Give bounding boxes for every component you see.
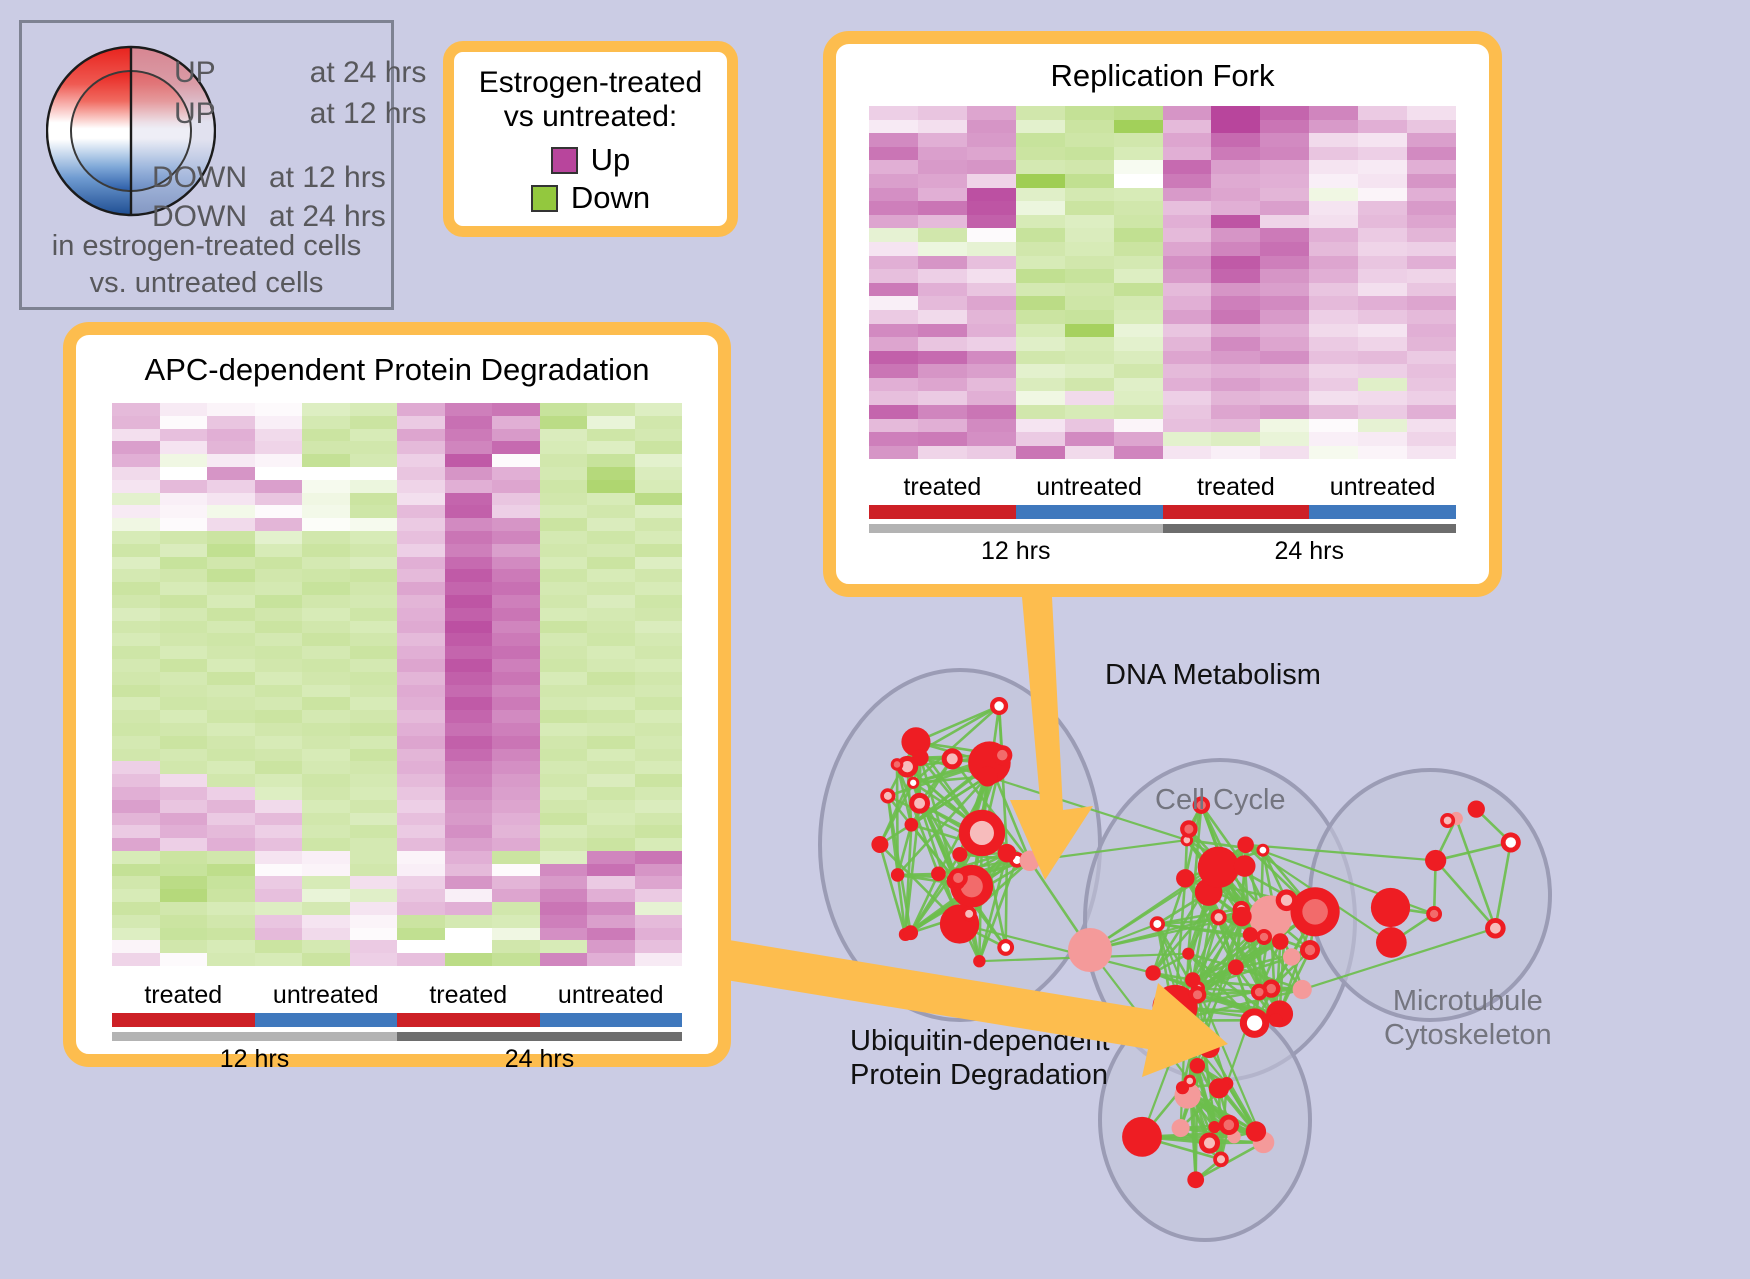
- network-node: [1145, 965, 1160, 980]
- heatmap-cell: [397, 582, 445, 595]
- heatmap-cell: [350, 889, 398, 902]
- heatmap-cell: [635, 697, 683, 710]
- time-bar-segment: [397, 1032, 682, 1041]
- heatmap-cell: [492, 761, 540, 774]
- heatmap-cell: [397, 518, 445, 531]
- heatmap-cell: [540, 454, 588, 467]
- heatmap-cell: [350, 467, 398, 480]
- condition-label: treated: [112, 981, 255, 1010]
- down-swatch-icon: [531, 185, 558, 212]
- heatmap-cell: [397, 608, 445, 621]
- heatmap-cell: [302, 761, 350, 774]
- network-node: [1187, 1171, 1204, 1188]
- heatmap-cell: [587, 518, 635, 531]
- heatmap-cell: [1114, 351, 1163, 365]
- heatmap-cell: [445, 429, 493, 442]
- network-node: [1232, 907, 1252, 927]
- heatmap-cell: [587, 557, 635, 570]
- heatmap-cell: [1211, 324, 1260, 338]
- heatmap-cell: [869, 446, 918, 460]
- heatmap-cell: [1211, 432, 1260, 446]
- heatmap-cell: [492, 518, 540, 531]
- heatmap-cell: [302, 697, 350, 710]
- heatmap-cell: [302, 441, 350, 454]
- heatmap-cell: [350, 544, 398, 557]
- heatmap-cell: [918, 446, 967, 460]
- heatmap-cell: [869, 242, 918, 256]
- heatmap-cell: [397, 800, 445, 813]
- network-node-core: [1214, 913, 1222, 921]
- key-caption-line2: vs. untreated cells: [22, 265, 391, 302]
- heatmap-cell: [967, 324, 1016, 338]
- heatmap-cell: [302, 569, 350, 582]
- heatmap-cell: [1358, 391, 1407, 405]
- network-node: [952, 847, 967, 862]
- heatmap-cell: [1260, 242, 1309, 256]
- heatmap-cell: [1163, 106, 1212, 120]
- heatmap-cell: [1065, 120, 1114, 134]
- heatmap-cell: [1407, 405, 1456, 419]
- heatmap-cell: [350, 595, 398, 608]
- heatmap-cell: [112, 800, 160, 813]
- heatmap-cell: [918, 174, 967, 188]
- heatmap-cell: [112, 761, 160, 774]
- heatmap-cell: [255, 761, 303, 774]
- heatmap-cell: [207, 633, 255, 646]
- condition-label: treated: [869, 473, 1016, 502]
- heatmap-cell: [397, 557, 445, 570]
- heatmap-cell: [207, 441, 255, 454]
- condition-bar-segment: [112, 1013, 255, 1027]
- heatmap-cell: [1211, 201, 1260, 215]
- heatmap-cell: [160, 736, 208, 749]
- heatmap-cell: [397, 940, 445, 953]
- heatmap-cell: [635, 749, 683, 762]
- heatmap-cell: [540, 505, 588, 518]
- heatmap-cell: [160, 838, 208, 851]
- heatmap-cell: [1309, 120, 1358, 134]
- heatmap-cell: [1211, 147, 1260, 161]
- network-node: [998, 844, 1017, 863]
- heatmap-cell: [1065, 147, 1114, 161]
- heatmap-cell: [967, 215, 1016, 229]
- heatmap-cell: [587, 454, 635, 467]
- heatmap-cell: [1065, 174, 1114, 188]
- heatmap-cell: [1309, 106, 1358, 120]
- heatmap-cell: [207, 429, 255, 442]
- heatmap-cell: [350, 940, 398, 953]
- heatmap-cell: [540, 659, 588, 672]
- heatmap-cell: [587, 531, 635, 544]
- heatmap-cell: [1211, 188, 1260, 202]
- heatmap-cell: [492, 454, 540, 467]
- heatmap-cell: [1407, 419, 1456, 433]
- heatmap-cell: [540, 646, 588, 659]
- network-node-core: [965, 910, 973, 918]
- heatmap-cell: [160, 454, 208, 467]
- heatmap-cell: [397, 902, 445, 915]
- condition-label: untreated: [1309, 473, 1456, 502]
- heatmap-cell: [1407, 391, 1456, 405]
- network-node: [1237, 836, 1254, 853]
- heatmap-cell: [587, 633, 635, 646]
- heatmap-cell: [302, 505, 350, 518]
- heatmap-cell: [635, 710, 683, 723]
- heatmap-cell: [302, 646, 350, 659]
- heatmap-cell: [635, 569, 683, 582]
- heatmap-cell: [112, 441, 160, 454]
- time-labels: 12 hrs24 hrs: [869, 537, 1456, 566]
- heatmap-cell: [350, 928, 398, 941]
- heatmap-cell: [207, 697, 255, 710]
- heatmap-cell: [1309, 133, 1358, 147]
- heatmap-cell: [1065, 188, 1114, 202]
- heatmap-cell: [1163, 201, 1212, 215]
- heatmap-cell: [1407, 364, 1456, 378]
- condition-label: treated: [1163, 473, 1310, 502]
- heatmap-cell: [1211, 106, 1260, 120]
- heatmap-cell: [302, 940, 350, 953]
- heatmap-cell: [1114, 446, 1163, 460]
- heatmap-cell: [302, 915, 350, 928]
- network-node: [1209, 1078, 1229, 1098]
- heatmap-cell: [207, 915, 255, 928]
- heatmap-cell: [445, 595, 493, 608]
- estrogen-legend-card: Estrogen-treated vs untreated: Up Down: [443, 41, 738, 237]
- heatmap-cell: [1211, 242, 1260, 256]
- network-node: [1185, 972, 1200, 987]
- heatmap-cell: [635, 902, 683, 915]
- heatmap-cell: [1358, 283, 1407, 297]
- heatmap-cell: [397, 416, 445, 429]
- heatmap-cell: [635, 429, 683, 442]
- time-label: 24 hrs: [397, 1045, 682, 1074]
- heatmap-cell: [1211, 269, 1260, 283]
- heatmap-cell: [445, 518, 493, 531]
- heatmap-apc: [112, 403, 682, 966]
- network-node: [1190, 1058, 1205, 1073]
- heatmap-cell: [1260, 378, 1309, 392]
- heatmap-cell: [397, 467, 445, 480]
- heatmap-cell: [302, 774, 350, 787]
- heatmap-cell: [350, 416, 398, 429]
- heatmap-cell: [967, 256, 1016, 270]
- heatmap-cell: [1114, 228, 1163, 242]
- heatmap-cell: [1358, 310, 1407, 324]
- heatmap-cell: [1114, 201, 1163, 215]
- heatmap-cell: [350, 736, 398, 749]
- time-label: 12 hrs: [112, 1045, 397, 1074]
- heatmap-cell: [967, 160, 1016, 174]
- heatmap-cell: [1407, 160, 1456, 174]
- heatmap-cell: [397, 723, 445, 736]
- heatmap-cell: [255, 825, 303, 838]
- time-bar-segment: [1163, 524, 1457, 533]
- network-node: [1246, 1121, 1266, 1141]
- condition-label: untreated: [255, 981, 398, 1010]
- heatmap-cell: [302, 749, 350, 762]
- heatmap-cell: [445, 761, 493, 774]
- heatmap-cell: [350, 518, 398, 531]
- heatmap-cell: [350, 429, 398, 442]
- heatmap-cell: [350, 493, 398, 506]
- heatmap-cell: [967, 310, 1016, 324]
- heatmap-cell: [397, 569, 445, 582]
- heatmap-cell: [918, 201, 967, 215]
- heatmap-cell: [1309, 283, 1358, 297]
- heatmap-cell: [255, 710, 303, 723]
- heatmap-cell: [207, 480, 255, 493]
- heatmap-cell: [492, 467, 540, 480]
- heatmap-cell: [967, 432, 1016, 446]
- heatmap-cell: [160, 557, 208, 570]
- heatmap-cell: [255, 774, 303, 787]
- heatmap-cell: [207, 531, 255, 544]
- heatmap-cell: [540, 557, 588, 570]
- heatmap-cell: [160, 621, 208, 634]
- heatmap-cell: [1065, 310, 1114, 324]
- heatmap-cell: [1065, 283, 1114, 297]
- network-node: [1176, 869, 1195, 888]
- heatmap-cell: [587, 953, 635, 966]
- heatmap-cell: [112, 480, 160, 493]
- heatmap-cell: [445, 915, 493, 928]
- legend-label: Up: [591, 142, 631, 178]
- heatmap-cell: [967, 228, 1016, 242]
- heatmap-cell: [160, 723, 208, 736]
- heatmap-cell: [1358, 106, 1407, 120]
- heatmap-cell: [350, 480, 398, 493]
- heatmap-cell: [635, 800, 683, 813]
- up-swatch-icon: [551, 147, 578, 174]
- heatmap-cell: [1163, 228, 1212, 242]
- heatmap-cell: [1407, 283, 1456, 297]
- condition-label: treated: [397, 981, 540, 1010]
- heatmap-cell: [445, 493, 493, 506]
- heatmap-cell: [445, 646, 493, 659]
- heatmap-cell: [1016, 160, 1065, 174]
- heatmap-cell: [540, 787, 588, 800]
- heatmap-cell: [587, 940, 635, 953]
- heatmap-cell: [397, 633, 445, 646]
- heatmap-cell: [207, 403, 255, 416]
- heatmap-cell: [302, 851, 350, 864]
- heatmap-cell: [112, 633, 160, 646]
- heatmap-cell: [869, 283, 918, 297]
- heatmap-cell: [967, 174, 1016, 188]
- time-bar-segment: [112, 1032, 397, 1041]
- heatmap-cell: [1114, 242, 1163, 256]
- network-node-core: [1224, 1120, 1235, 1131]
- heatmap-cell: [1114, 188, 1163, 202]
- network-node: [1425, 850, 1446, 871]
- heatmap-cell: [112, 659, 160, 672]
- heatmap-replication-fork: [869, 106, 1456, 459]
- heatmap-cell: [918, 256, 967, 270]
- heatmap-cell: [1260, 446, 1309, 460]
- heatmap-cell: [112, 697, 160, 710]
- heatmap-cell: [207, 557, 255, 570]
- heatmap-cell: [1260, 228, 1309, 242]
- heatmap-cell: [1211, 120, 1260, 134]
- heatmap-cell: [587, 889, 635, 902]
- heatmap-cell: [1407, 432, 1456, 446]
- heatmap-cell: [255, 813, 303, 826]
- heatmap-cell: [255, 749, 303, 762]
- heatmap-cell: [302, 493, 350, 506]
- heatmap-cell: [207, 416, 255, 429]
- heatmap-cell: [445, 621, 493, 634]
- heatmap-cell: [112, 416, 160, 429]
- heatmap-cell: [397, 646, 445, 659]
- heatmap-cell: [207, 659, 255, 672]
- cluster-label-cell-cycle: Cell Cycle: [1155, 783, 1286, 817]
- heatmap-cell: [869, 269, 918, 283]
- heatmap-cell: [302, 672, 350, 685]
- heatmap-cell: [302, 723, 350, 736]
- network-edge: [897, 764, 898, 874]
- heatmap-cell: [1260, 147, 1309, 161]
- heatmap-cell: [869, 106, 918, 120]
- heatmap-cell: [492, 685, 540, 698]
- heatmap-cell: [1260, 405, 1309, 419]
- heatmap-cell: [1309, 351, 1358, 365]
- heatmap-cell: [255, 876, 303, 889]
- heatmap-cell: [1211, 228, 1260, 242]
- heatmap-cell: [1114, 364, 1163, 378]
- heatmap-cell: [635, 403, 683, 416]
- heatmap-cell: [918, 120, 967, 134]
- heatmap-cell: [112, 646, 160, 659]
- network-graph: [790, 620, 1750, 1279]
- heatmap-cell: [587, 480, 635, 493]
- heatmap-cell: [1407, 310, 1456, 324]
- heatmap-cell: [160, 531, 208, 544]
- heatmap-cell: [1016, 432, 1065, 446]
- network-node-core: [1001, 943, 1010, 952]
- heatmap-cell: [587, 544, 635, 557]
- heatmap-cell: [112, 928, 160, 941]
- heatmap-cell: [350, 646, 398, 659]
- heatmap-cell: [1016, 174, 1065, 188]
- heatmap-cell: [302, 787, 350, 800]
- heatmap-cell: [255, 902, 303, 915]
- heatmap-cell: [160, 851, 208, 864]
- network-node-core: [994, 701, 1003, 710]
- heatmap-cell: [350, 749, 398, 762]
- heatmap-cell: [1163, 324, 1212, 338]
- heatmap-cell: [160, 864, 208, 877]
- heatmap-cell: [635, 813, 683, 826]
- heatmap-cell: [302, 864, 350, 877]
- heatmap-cell: [255, 595, 303, 608]
- heatmap-cell: [1114, 283, 1163, 297]
- condition-bar-segment: [869, 505, 1016, 519]
- heatmap-cell: [1260, 296, 1309, 310]
- figure-canvas: UP at 24 hrs UP at 12 hrs DOWN at 12 hrs…: [0, 0, 1750, 1279]
- heatmap-cell: [445, 403, 493, 416]
- heatmap-cell: [160, 749, 208, 762]
- heatmap-cell: [160, 825, 208, 838]
- heatmap-cell: [255, 928, 303, 941]
- heatmap-cell: [397, 672, 445, 685]
- network-node-core: [1305, 945, 1315, 955]
- network-node: [1208, 1121, 1220, 1133]
- heatmap-cell: [918, 188, 967, 202]
- key-row-up-12: UP at 12 hrs: [174, 97, 426, 131]
- heatmap-cell: [492, 710, 540, 723]
- heatmap-cell: [160, 646, 208, 659]
- heatmap-cell: [540, 940, 588, 953]
- heatmap-cell: [918, 147, 967, 161]
- heatmap-cell: [869, 310, 918, 324]
- heatmap-cell: [1358, 242, 1407, 256]
- heatmap-cell: [397, 621, 445, 634]
- heatmap-cell: [112, 953, 160, 966]
- heatmap-cell: [350, 902, 398, 915]
- heatmap-cell: [540, 749, 588, 762]
- heatmap-cell: [1260, 106, 1309, 120]
- heatmap-cell: [1260, 324, 1309, 338]
- heatmap-cell: [112, 518, 160, 531]
- heatmap-cell: [207, 838, 255, 851]
- heatmap-cell: [918, 378, 967, 392]
- heatmap-cell: [1016, 283, 1065, 297]
- heatmap-cell: [492, 813, 540, 826]
- heatmap-cell: [1065, 256, 1114, 270]
- heatmap-cell: [302, 825, 350, 838]
- heatmap-cell: [1065, 378, 1114, 392]
- heatmap-cell: [350, 915, 398, 928]
- network-node-core: [902, 761, 913, 772]
- heatmap-cell: [492, 544, 540, 557]
- heatmap-cell: [397, 697, 445, 710]
- heatmap-cell: [1407, 201, 1456, 215]
- time-color-bar: [869, 524, 1456, 533]
- heatmap-cell: [635, 595, 683, 608]
- heatmap-cell: [445, 557, 493, 570]
- heatmap-cell: [1163, 419, 1212, 433]
- heatmap-cell: [918, 337, 967, 351]
- heatmap-cell: [1016, 296, 1065, 310]
- heatmap-cell: [302, 518, 350, 531]
- heatmap-cell: [492, 787, 540, 800]
- heatmap-cell: [869, 215, 918, 229]
- heatmap-cell: [445, 582, 493, 595]
- heatmap-cell: [255, 915, 303, 928]
- heatmap-cell: [350, 710, 398, 723]
- heatmap-cell: [1358, 324, 1407, 338]
- heatmap-cell: [160, 928, 208, 941]
- heatmap-cell: [1163, 446, 1212, 460]
- heatmap-cell: [255, 544, 303, 557]
- heatmap-cell: [350, 454, 398, 467]
- heatmap-cell: [635, 876, 683, 889]
- heatmap-cell: [635, 928, 683, 941]
- heatmap-cell: [1016, 228, 1065, 242]
- heatmap-cell: [540, 774, 588, 787]
- heatmap-cell: [587, 813, 635, 826]
- heatmap-cell: [445, 851, 493, 864]
- heatmap-cell: [540, 429, 588, 442]
- heatmap-cell: [160, 685, 208, 698]
- network-node-core: [970, 821, 994, 845]
- heatmap-cell: [635, 915, 683, 928]
- heatmap-cell: [492, 889, 540, 902]
- heatmap-cell: [397, 403, 445, 416]
- time-label: 24 hrs: [1163, 537, 1457, 566]
- heatmap-cell: [350, 633, 398, 646]
